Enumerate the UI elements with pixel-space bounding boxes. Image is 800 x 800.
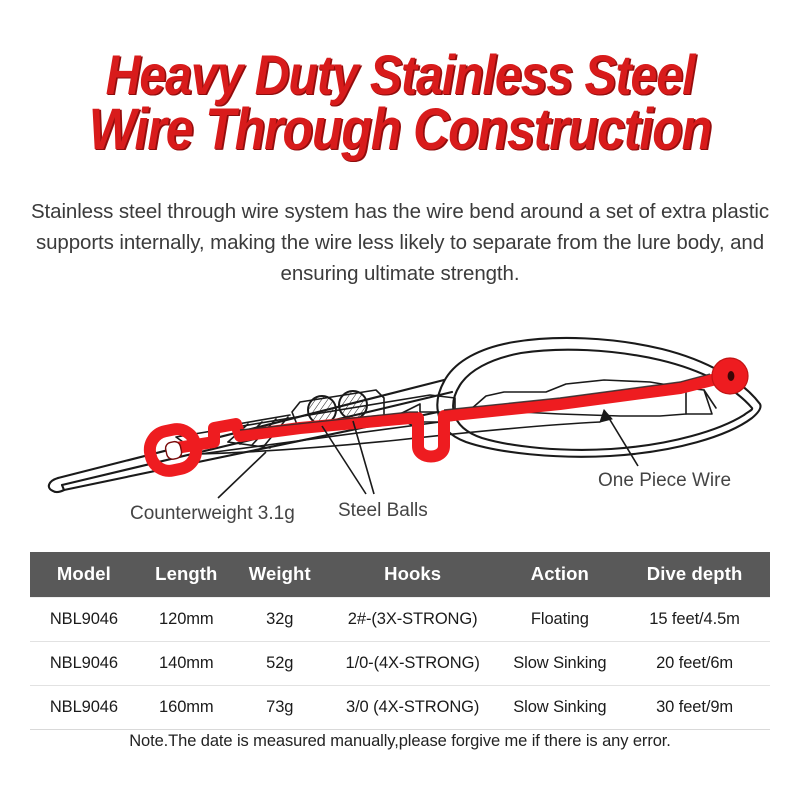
cell-weight: 73g (235, 686, 325, 730)
column-header-length: Length (138, 552, 235, 598)
cell-length: 160mm (138, 686, 235, 730)
cell-dive-depth: 15 feet/4.5m (619, 598, 770, 642)
column-header-model: Model (30, 552, 138, 598)
cell-action: Slow Sinking (501, 642, 620, 686)
spec-table: Model Length Weight Hooks Action Dive de… (30, 552, 770, 730)
cell-weight: 32g (235, 598, 325, 642)
cell-model: NBL9046 (30, 598, 138, 642)
column-header-weight: Weight (235, 552, 325, 598)
column-header-action: Action (501, 552, 620, 598)
cell-length: 120mm (138, 598, 235, 642)
cell-hooks: 2#-(3X-STRONG) (325, 598, 501, 642)
callout-counterweight-label: Counterweight 3.1g (130, 503, 295, 524)
lure-diagram: Counterweight 3.1g Steel Balls One Piece… (0, 318, 800, 530)
title-line-1: Heavy Duty Stainless Steel (56, 48, 744, 102)
cell-action: Slow Sinking (501, 686, 620, 730)
cell-model: NBL9046 (30, 642, 138, 686)
callout-one-piece-wire-label: One Piece Wire (598, 470, 731, 491)
page-title: Heavy Duty Stainless Steel Wire Through … (0, 48, 800, 157)
column-header-hooks: Hooks (325, 552, 501, 598)
cell-model: NBL9046 (30, 686, 138, 730)
callout-steel-balls-label: Steel Balls (338, 500, 428, 521)
title-line-2: Wire Through Construction (56, 102, 744, 158)
measurement-note: Note.The date is measured manually,pleas… (0, 732, 800, 751)
intro-paragraph: Stainless steel through wire system has … (30, 196, 770, 289)
spec-table-body: NBL9046 120mm 32g 2#-(3X-STRONG) Floatin… (30, 598, 770, 730)
table-row: NBL9046 160mm 73g 3/0 (4X-STRONG) Slow S… (30, 686, 770, 730)
cell-action: Floating (501, 598, 620, 642)
table-row: NBL9046 120mm 32g 2#-(3X-STRONG) Floatin… (30, 598, 770, 642)
cell-length: 140mm (138, 642, 235, 686)
cell-hooks: 3/0 (4X-STRONG) (325, 686, 501, 730)
table-header-row: Model Length Weight Hooks Action Dive de… (30, 552, 770, 598)
cell-dive-depth: 20 feet/6m (619, 642, 770, 686)
cell-dive-depth: 30 feet/9m (619, 686, 770, 730)
cell-hooks: 1/0-(4X-STRONG) (325, 642, 501, 686)
product-infographic: Heavy Duty Stainless Steel Wire Through … (0, 0, 800, 800)
cell-weight: 52g (235, 642, 325, 686)
table-row: NBL9046 140mm 52g 1/0-(4X-STRONG) Slow S… (30, 642, 770, 686)
spec-table-header: Model Length Weight Hooks Action Dive de… (30, 552, 770, 598)
column-header-dive-depth: Dive depth (619, 552, 770, 598)
